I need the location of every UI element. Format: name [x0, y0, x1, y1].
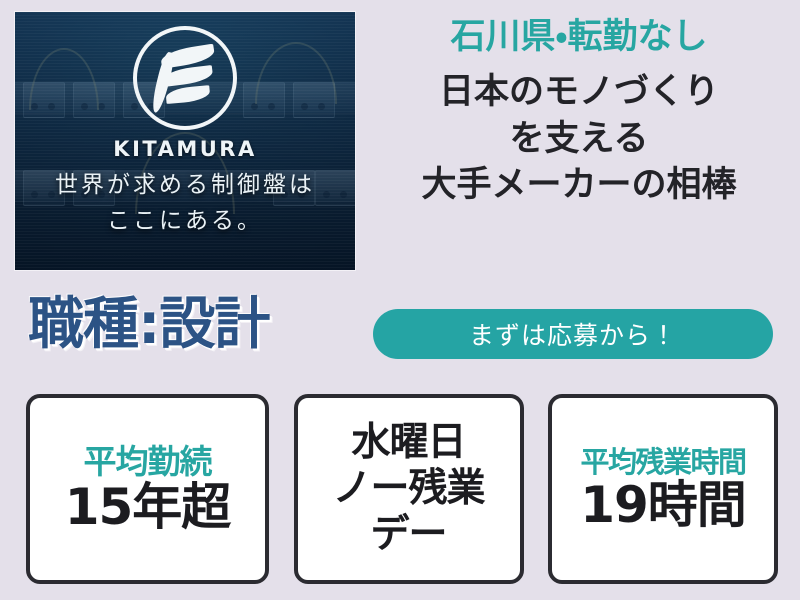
photo-tagline-line-2: ここにある。 — [15, 203, 355, 239]
kitamura-leaf-logo-icon — [133, 26, 237, 130]
stat-card-average-overtime: 平均残業時間 19時間 — [548, 394, 778, 584]
stat-line-3: デー — [332, 512, 484, 558]
headline-line-3: 大手メーカーの相棒 — [366, 162, 792, 209]
kitamura-logo: KITAMURA — [15, 26, 355, 161]
photo-tagline-line-1: 世界が求める制御盤は — [15, 167, 355, 203]
job-type-label: 職種:設計 — [28, 297, 269, 353]
headline-line-1: 日本のモノづくり — [366, 69, 792, 116]
stat-card-row: 平均勤続 15年超 水曜日 ノー残業 デー 平均残業時間 19時間 — [26, 394, 778, 584]
logo-wordmark: KITAMURA — [113, 137, 256, 161]
apply-cta-button[interactable]: まずは応募から！ — [373, 309, 773, 359]
eyebrow-text: 石川県・転勤なし — [366, 16, 792, 59]
headline-line-2: を支える — [366, 116, 792, 163]
stat-line-2: ノー残業 — [332, 466, 484, 512]
company-photo-panel: KITAMURA 世界が求める制御盤は ここにある。 — [15, 12, 355, 270]
stat-line-1: 水曜日 — [332, 420, 484, 466]
stat-label: 平均勤続 — [84, 445, 212, 480]
stat-card-average-tenure: 平均勤続 15年超 — [26, 394, 269, 584]
stat-value: 15年超 — [65, 481, 231, 533]
headline-block: 石川県・転勤なし 日本のモノづくり を支える 大手メーカーの相棒 — [366, 16, 792, 209]
headline-text: 日本のモノづくり を支える 大手メーカーの相棒 — [366, 69, 792, 210]
stat-lines: 水曜日 ノー残業 デー — [332, 420, 484, 558]
stat-card-no-overtime-day: 水曜日 ノー残業 デー — [294, 394, 524, 584]
apply-cta-label: まずは応募から！ — [469, 316, 677, 352]
stat-value: 19時間 — [580, 479, 746, 531]
stat-label: 平均残業時間 — [580, 447, 745, 478]
logo-leaf-shape-3 — [165, 85, 210, 104]
recruit-banner: KITAMURA 世界が求める制御盤は ここにある。 石川県・転勤なし 日本のモ… — [0, 0, 800, 600]
photo-tagline: 世界が求める制御盤は ここにある。 — [15, 167, 355, 240]
